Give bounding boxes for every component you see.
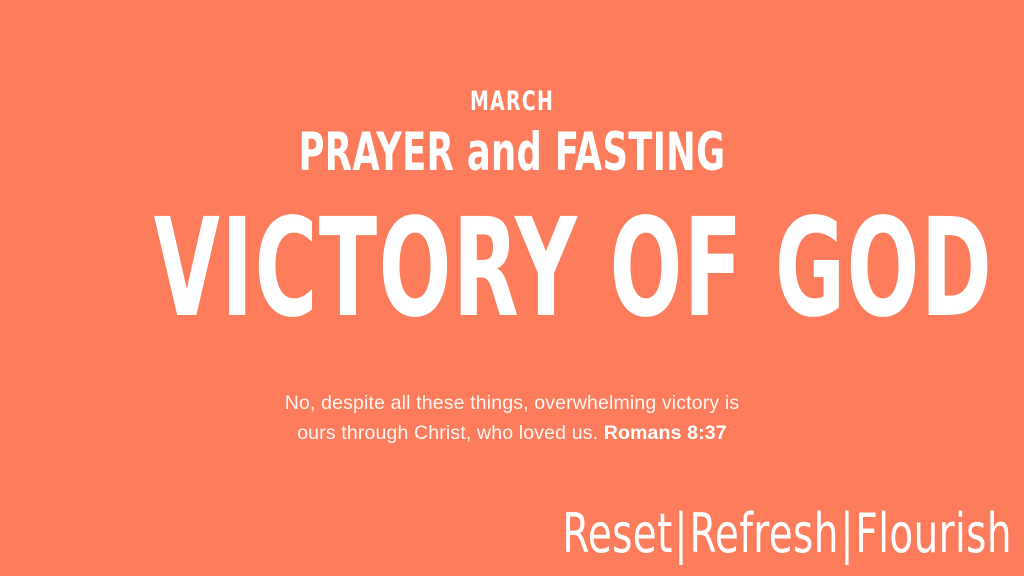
tagline-item-reset: Reset (563, 502, 673, 565)
subtitle-space-two (542, 122, 555, 183)
bottom-tagline: Reset|Refresh|Flourish (563, 505, 1012, 562)
subtitle-part-one: PRAYER (299, 122, 455, 183)
subtitle-connector (454, 122, 467, 183)
scripture-reference: Romans 8:37 (604, 422, 727, 444)
subtitle-connector-word: and (467, 122, 542, 183)
subtitle-part-two: FASTING (555, 122, 726, 183)
tagline-item-refresh: Refresh (690, 502, 839, 565)
verse-line-two: ours through Christ, who loved us. (297, 422, 598, 444)
tagline-separator-two: | (839, 502, 856, 565)
scripture-verse: No, despite all these things, overwhelmi… (0, 388, 1024, 448)
verse-line-one: No, despite all these things, overwhelmi… (285, 392, 740, 414)
month-eyebrow: MARCH (113, 88, 912, 115)
tagline-separator-one: | (673, 502, 690, 565)
event-subtitle: PRAYER and FASTING (133, 126, 891, 179)
prayer-fasting-slide: MARCH PRAYER and FASTING VICTORY OF GOD … (0, 0, 1024, 576)
tagline-item-flourish: Flourish (856, 502, 1012, 565)
page-title: VICTORY OF GOD (154, 201, 871, 337)
